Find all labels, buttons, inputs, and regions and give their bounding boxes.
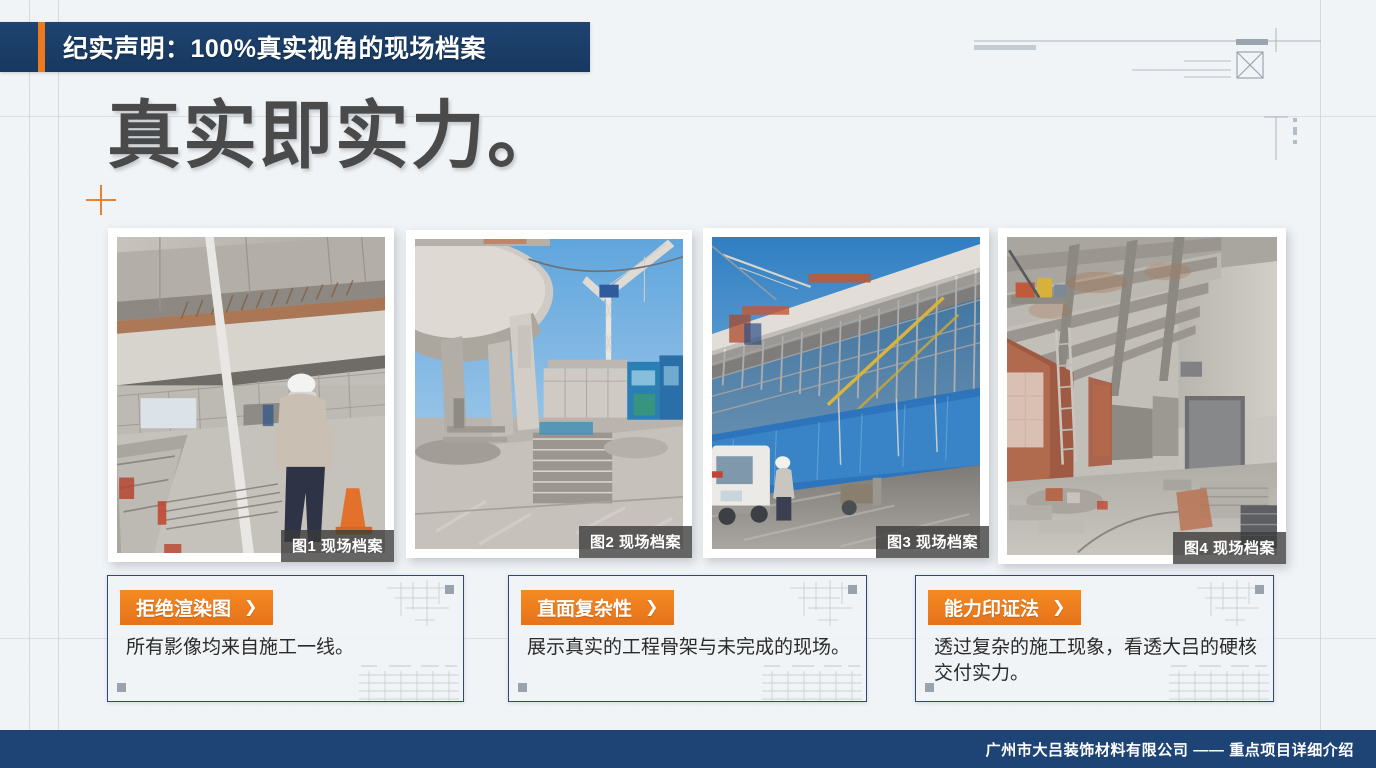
- header-title-text: 纪实声明：100%真实视角的现场档案: [63, 29, 486, 65]
- photo-image-4: [1007, 237, 1277, 555]
- photo-card-3[interactable]: 图3 现场档案: [703, 228, 989, 558]
- blueprint-decoration-top-right: [946, 0, 1376, 160]
- photo-caption-4: 图4 现场档案: [1173, 532, 1286, 564]
- corner-square-marker: [445, 585, 454, 594]
- corner-square-marker: [1255, 585, 1264, 594]
- photo-caption-1: 图1 现场档案: [281, 530, 394, 562]
- info-card-3[interactable]: 能力印证法 ❯ 透过复杂的施工现象，看透大吕的硬核交付实力。: [915, 575, 1274, 702]
- card-body-3: 透过复杂的施工现象，看透大吕的硬核交付实力。: [934, 635, 1257, 687]
- card-tab-label-3: 能力印证法: [944, 594, 1039, 621]
- card-body-2: 展示真实的工程骨架与未完成的现场。: [527, 635, 850, 661]
- slide-canvas: 纪实声明：100%真实视角的现场档案 真实即实力。: [0, 0, 1376, 768]
- blueprint-decoration-card-bottom: [359, 661, 459, 701]
- blueprint-decoration-card-bottom: [762, 661, 862, 701]
- chevron-right-icon: ❯: [1052, 600, 1065, 616]
- corner-square-marker: [117, 683, 126, 692]
- info-card-2[interactable]: 直面复杂性 ❯ 展示真实的工程骨架与未完成的现场。: [508, 575, 867, 702]
- header-title-bar: 纪实声明：100%真实视角的现场档案: [0, 22, 590, 72]
- corner-square-marker: [518, 683, 527, 692]
- photo-image-3: [712, 237, 980, 549]
- page-title: 真实即实力。: [107, 97, 563, 175]
- orange-cross-marker: [86, 185, 116, 215]
- header-accent-bar: [38, 22, 45, 72]
- card-tab-label-1: 拒绝渲染图: [136, 594, 231, 621]
- info-card-1[interactable]: 拒绝渲染图 ❯ 所有影像均来自施工一线。: [107, 575, 464, 702]
- card-tab-label-2: 直面复杂性: [537, 594, 632, 621]
- chevron-right-icon: ❯: [645, 600, 658, 616]
- footer-text: 广州市大吕装饰材料有限公司 —— 重点项目详细介绍: [986, 739, 1376, 760]
- photo-image-2: [415, 239, 683, 549]
- chevron-right-icon: ❯: [244, 600, 257, 616]
- card-tab-1[interactable]: 拒绝渲染图 ❯: [120, 590, 273, 625]
- photo-caption-2: 图2 现场档案: [579, 526, 692, 558]
- footer-bar: 广州市大吕装饰材料有限公司 —— 重点项目详细介绍: [0, 730, 1376, 768]
- photo-caption-3: 图3 现场档案: [876, 526, 989, 558]
- corner-square-marker: [925, 683, 934, 692]
- photo-card-1[interactable]: 图1 现场档案: [108, 228, 394, 562]
- card-tab-3[interactable]: 能力印证法 ❯: [928, 590, 1081, 625]
- corner-square-marker: [848, 585, 857, 594]
- photo-card-4[interactable]: 图4 现场档案: [998, 228, 1286, 564]
- card-tab-2[interactable]: 直面复杂性 ❯: [521, 590, 674, 625]
- photo-image-1: [117, 237, 385, 553]
- photo-card-2[interactable]: 图2 现场档案: [406, 230, 692, 558]
- card-body-1: 所有影像均来自施工一线。: [126, 635, 447, 661]
